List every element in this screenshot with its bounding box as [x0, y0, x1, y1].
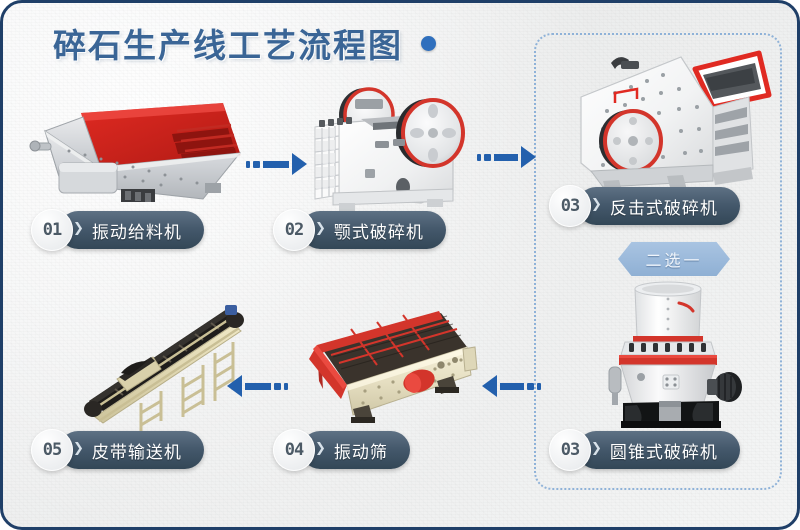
title-text: 碎石生产线工艺流程图	[53, 19, 403, 67]
step-01-vibrating-feeder[interactable]: 01 ❯ 振动给料机	[31, 211, 204, 249]
choose-one-label: 二选一	[645, 247, 702, 271]
step-label-01: 振动给料机	[92, 218, 182, 243]
step-03-cone-crusher[interactable]: 03 ❯ 圆锥式破碎机	[549, 431, 740, 469]
step-label-03-impact: 反击式破碎机	[610, 194, 718, 219]
step-pill-03-impact[interactable]: ❯ 反击式破碎机	[577, 187, 740, 225]
arrow-crusher-to-screen	[482, 375, 541, 397]
machine-impact-crusher	[563, 45, 778, 205]
step-pill-02[interactable]: ❯ 颚式破碎机	[301, 211, 446, 249]
machine-cone-crusher	[579, 279, 759, 434]
step-pill-05[interactable]: ❯ 皮带输送机	[59, 431, 204, 469]
machine-jaw-crusher	[303, 75, 478, 220]
step-number-01: 01	[31, 209, 73, 251]
step-label-02: 颚式破碎机	[334, 218, 424, 243]
step-pill-03-cone[interactable]: ❯ 圆锥式破碎机	[577, 431, 740, 469]
choose-one-badge: 二选一	[618, 242, 730, 276]
step-05-belt-conveyor[interactable]: 05 ❯ 皮带输送机	[31, 431, 204, 469]
step-pill-04[interactable]: ❯ 振动筛	[301, 431, 410, 469]
chevron-right-icon: ❯	[73, 441, 84, 454]
step-03-impact-crusher[interactable]: 03 ❯ 反击式破碎机	[549, 187, 740, 225]
machine-vibrating-screen	[291, 303, 481, 433]
arrow-jaw-to-impact	[477, 146, 536, 168]
step-label-03-cone: 圆锥式破碎机	[610, 438, 718, 463]
machine-belt-conveyor	[75, 295, 270, 440]
step-number-04: 04	[273, 429, 315, 471]
title-dot-icon	[421, 36, 436, 51]
arrow-screen-to-conveyor	[227, 375, 288, 397]
step-04-vibrating-screen[interactable]: 04 ❯ 振动筛	[273, 431, 410, 469]
chevron-right-icon: ❯	[591, 197, 602, 210]
step-number-05: 05	[31, 429, 73, 471]
flowchart-page: 碎石生产线工艺流程图 二选一	[0, 0, 800, 530]
step-02-jaw-crusher[interactable]: 02 ❯ 颚式破碎机	[273, 211, 446, 249]
step-label-04: 振动筛	[334, 438, 388, 463]
chevron-right-icon: ❯	[591, 441, 602, 454]
step-pill-01[interactable]: ❯ 振动给料机	[59, 211, 204, 249]
step-number-03-impact: 03	[549, 185, 591, 227]
chevron-right-icon: ❯	[315, 441, 326, 454]
step-number-03-cone: 03	[549, 429, 591, 471]
step-label-05: 皮带输送机	[92, 438, 182, 463]
page-title: 碎石生产线工艺流程图	[53, 19, 436, 67]
chevron-right-icon: ❯	[315, 221, 326, 234]
arrow-feeder-to-jaw	[246, 153, 307, 175]
step-number-02: 02	[273, 209, 315, 251]
chevron-right-icon: ❯	[73, 221, 84, 234]
machine-vibrating-feeder	[25, 91, 250, 216]
